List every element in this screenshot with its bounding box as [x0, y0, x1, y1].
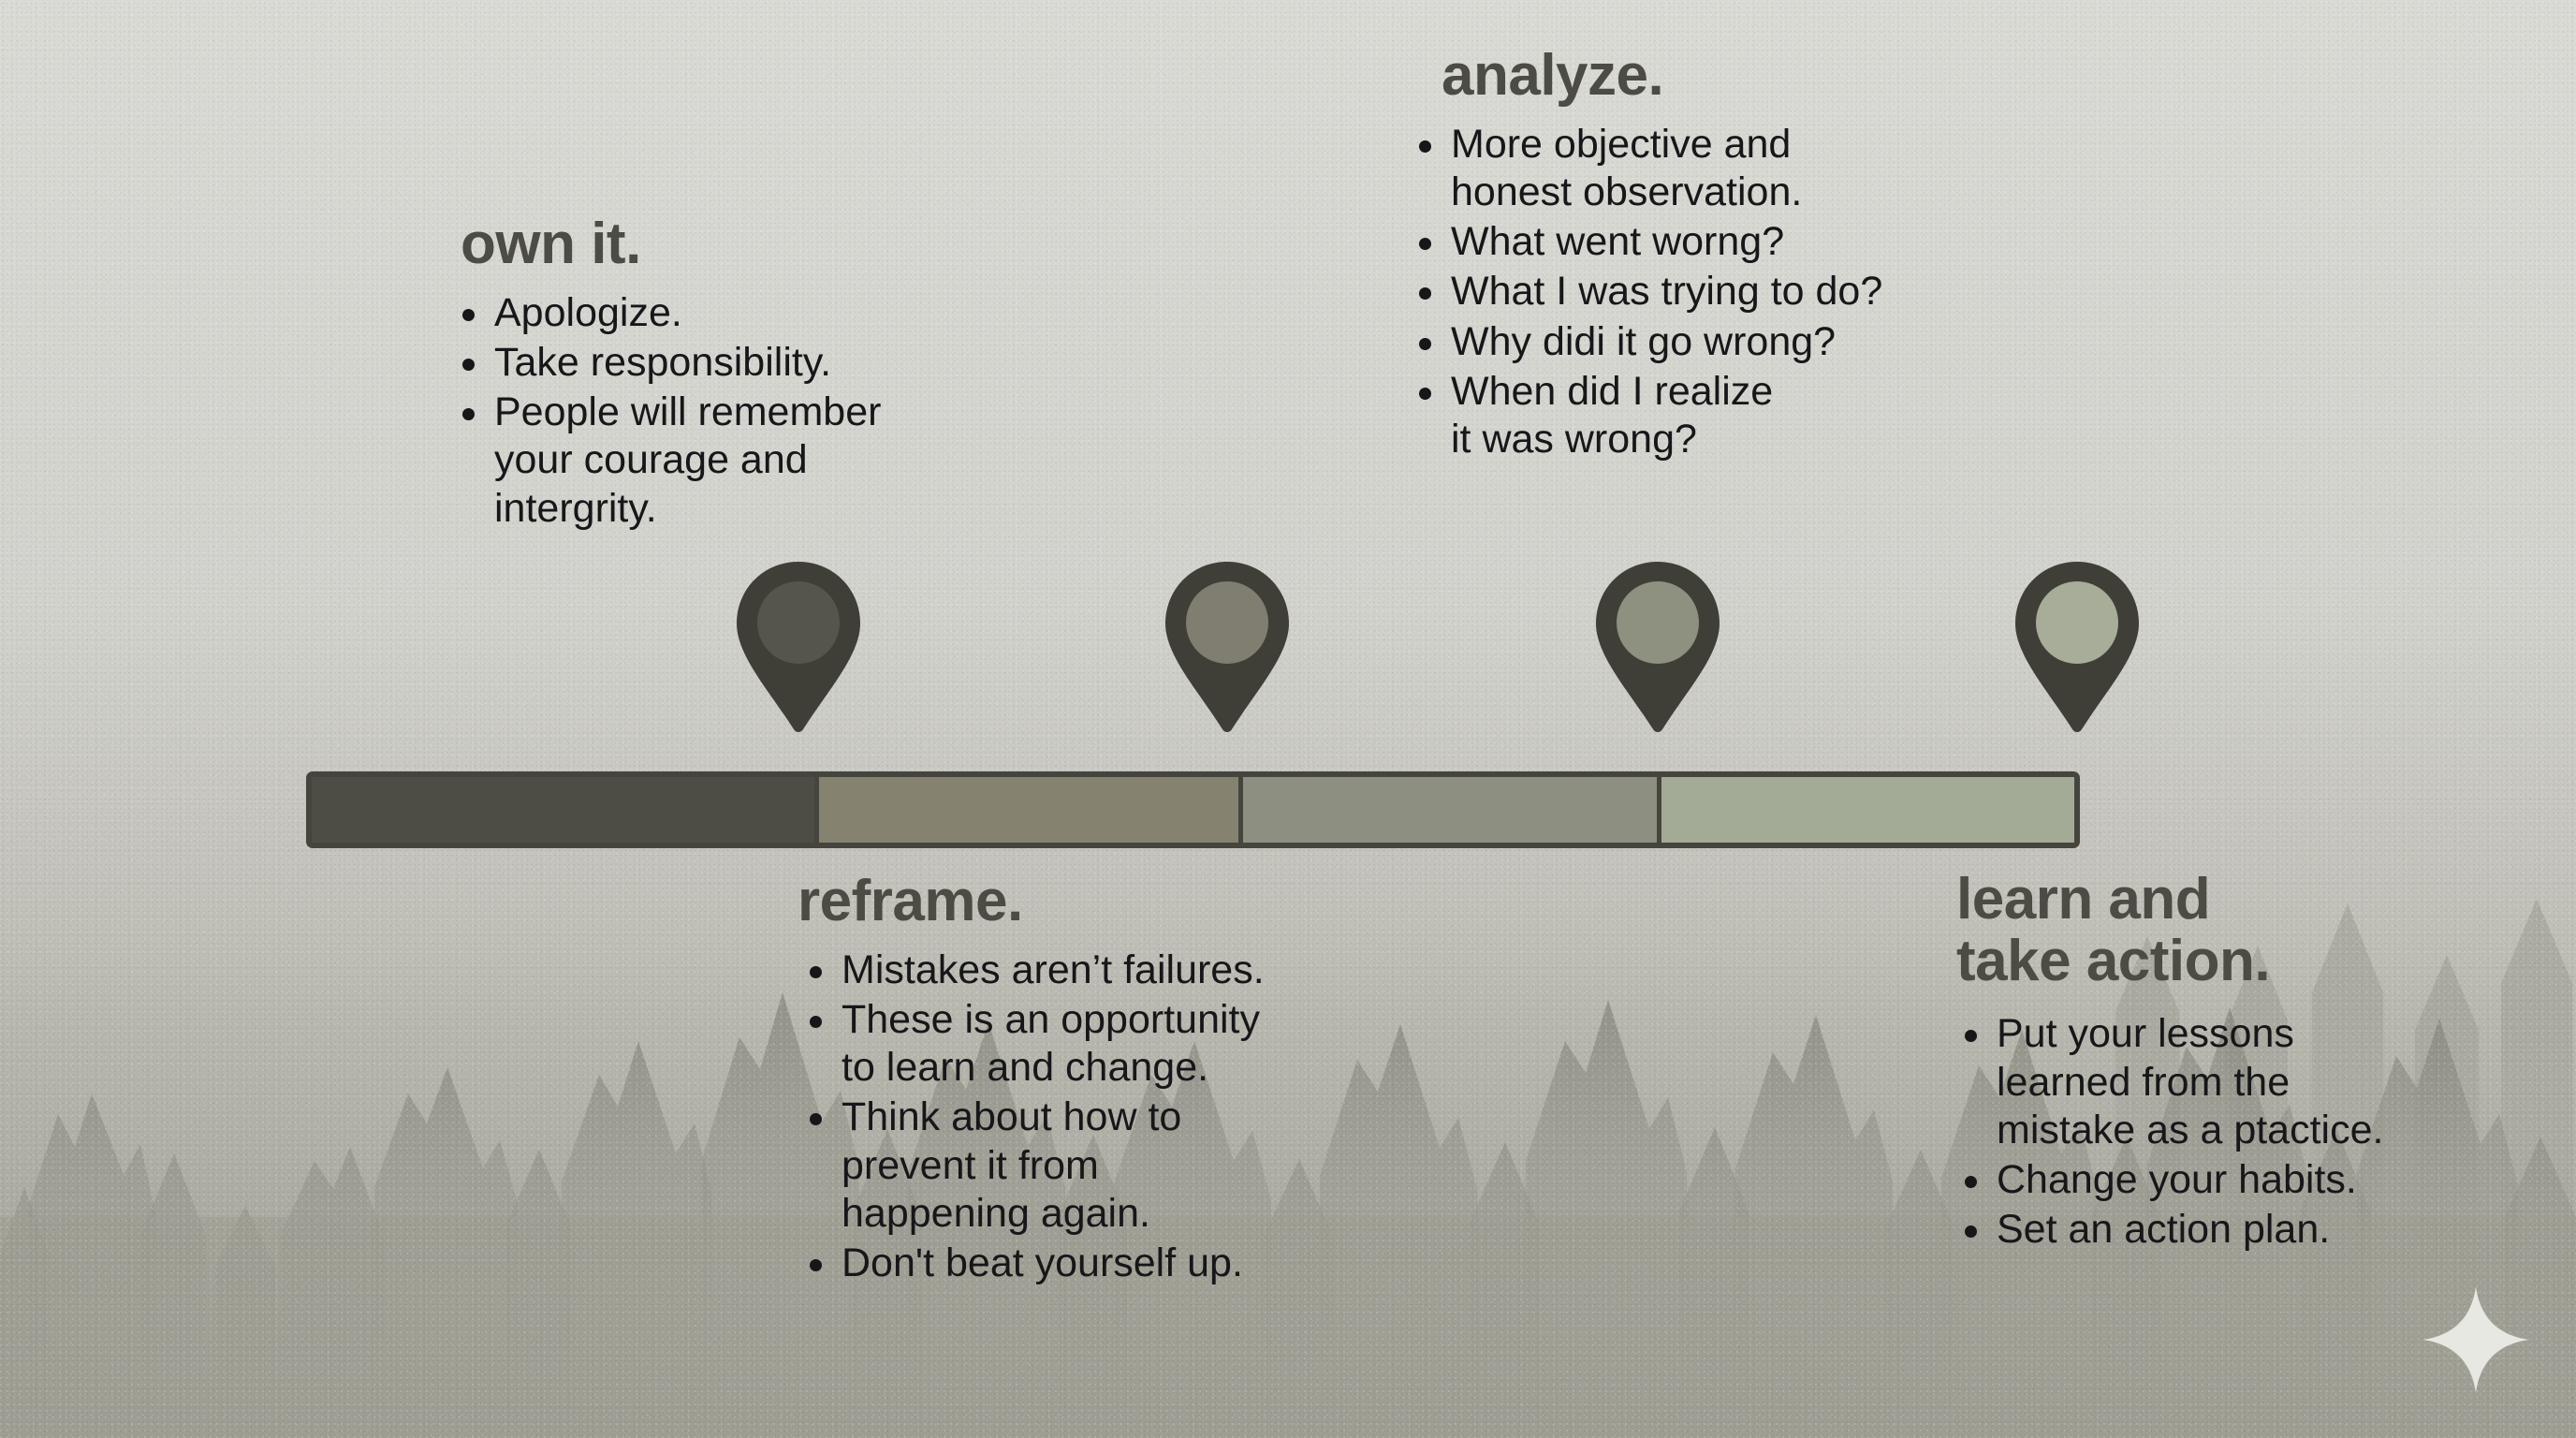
step-bullets-reframe: Mistakes aren’t failures. These is an op… [804, 946, 1397, 1287]
bullet-item: When did I realize it was wrong? [1413, 368, 2078, 463]
bullet-item: Take responsibility. [457, 339, 1060, 387]
progress-segment-analyze [1238, 777, 1656, 843]
step-heading-learn-and-take-action: learn and take action. [1956, 869, 2518, 991]
step-block-analyze: analyze. More objective and honest obser… [1442, 45, 2078, 465]
progress-bar [306, 771, 2080, 848]
bullet-item: Change your habits. [1959, 1156, 2518, 1204]
bullet-item: These is an opportunity to learn and cha… [804, 996, 1397, 1092]
bullet-item: What went worng? [1413, 218, 2078, 266]
bullet-item: Set an action plan. [1959, 1206, 2518, 1254]
step-block-own-it: own it. Apologize. Take responsibility. … [461, 213, 1060, 535]
step-heading-analyze: analyze. [1442, 45, 2078, 108]
bullet-item: What I was trying to do? [1413, 268, 2078, 315]
step-heading-reframe: reframe. [798, 871, 1397, 933]
bullet-item: More objective and honest observation. [1413, 121, 2078, 216]
bullet-item: Don't beat yourself up. [804, 1240, 1397, 1287]
progress-segment-learn [1657, 777, 2074, 843]
progress-segment-reframe [814, 777, 1239, 843]
progress-segment-own-it [312, 777, 814, 843]
step-bullets-learn-and-take-action: Put your lessons learned from the mistak… [1959, 1010, 2518, 1254]
map-pin-icon-learn-and-take-action [2011, 558, 2144, 736]
step-heading-own-it: own it. [461, 213, 1060, 276]
map-pin-icon-own-it [732, 558, 865, 736]
step-bullets-analyze: More objective and honest observation. W… [1413, 121, 2078, 463]
map-pin-icon-reframe [1161, 558, 1294, 736]
map-pin-icon-analyze [1591, 558, 1724, 736]
step-block-reframe: reframe. Mistakes aren’t failures. These… [798, 871, 1397, 1289]
sparkle-icon [2421, 1284, 2531, 1395]
bullet-item: Mistakes aren’t failures. [804, 946, 1397, 994]
bullet-item: Think about how to prevent it from happe… [804, 1093, 1397, 1237]
step-bullets-own-it: Apologize. Take responsibility. People w… [457, 289, 1060, 533]
bullet-item: People will remember your courage and in… [457, 389, 1060, 532]
bullet-item: Why didi it go wrong? [1413, 318, 2078, 366]
step-block-learn-and-take-action: learn and take action. Put your lessons … [1956, 869, 2518, 1255]
bullet-item: Apologize. [457, 289, 1060, 337]
bullet-item: Put your lessons learned from the mistak… [1959, 1010, 2518, 1153]
